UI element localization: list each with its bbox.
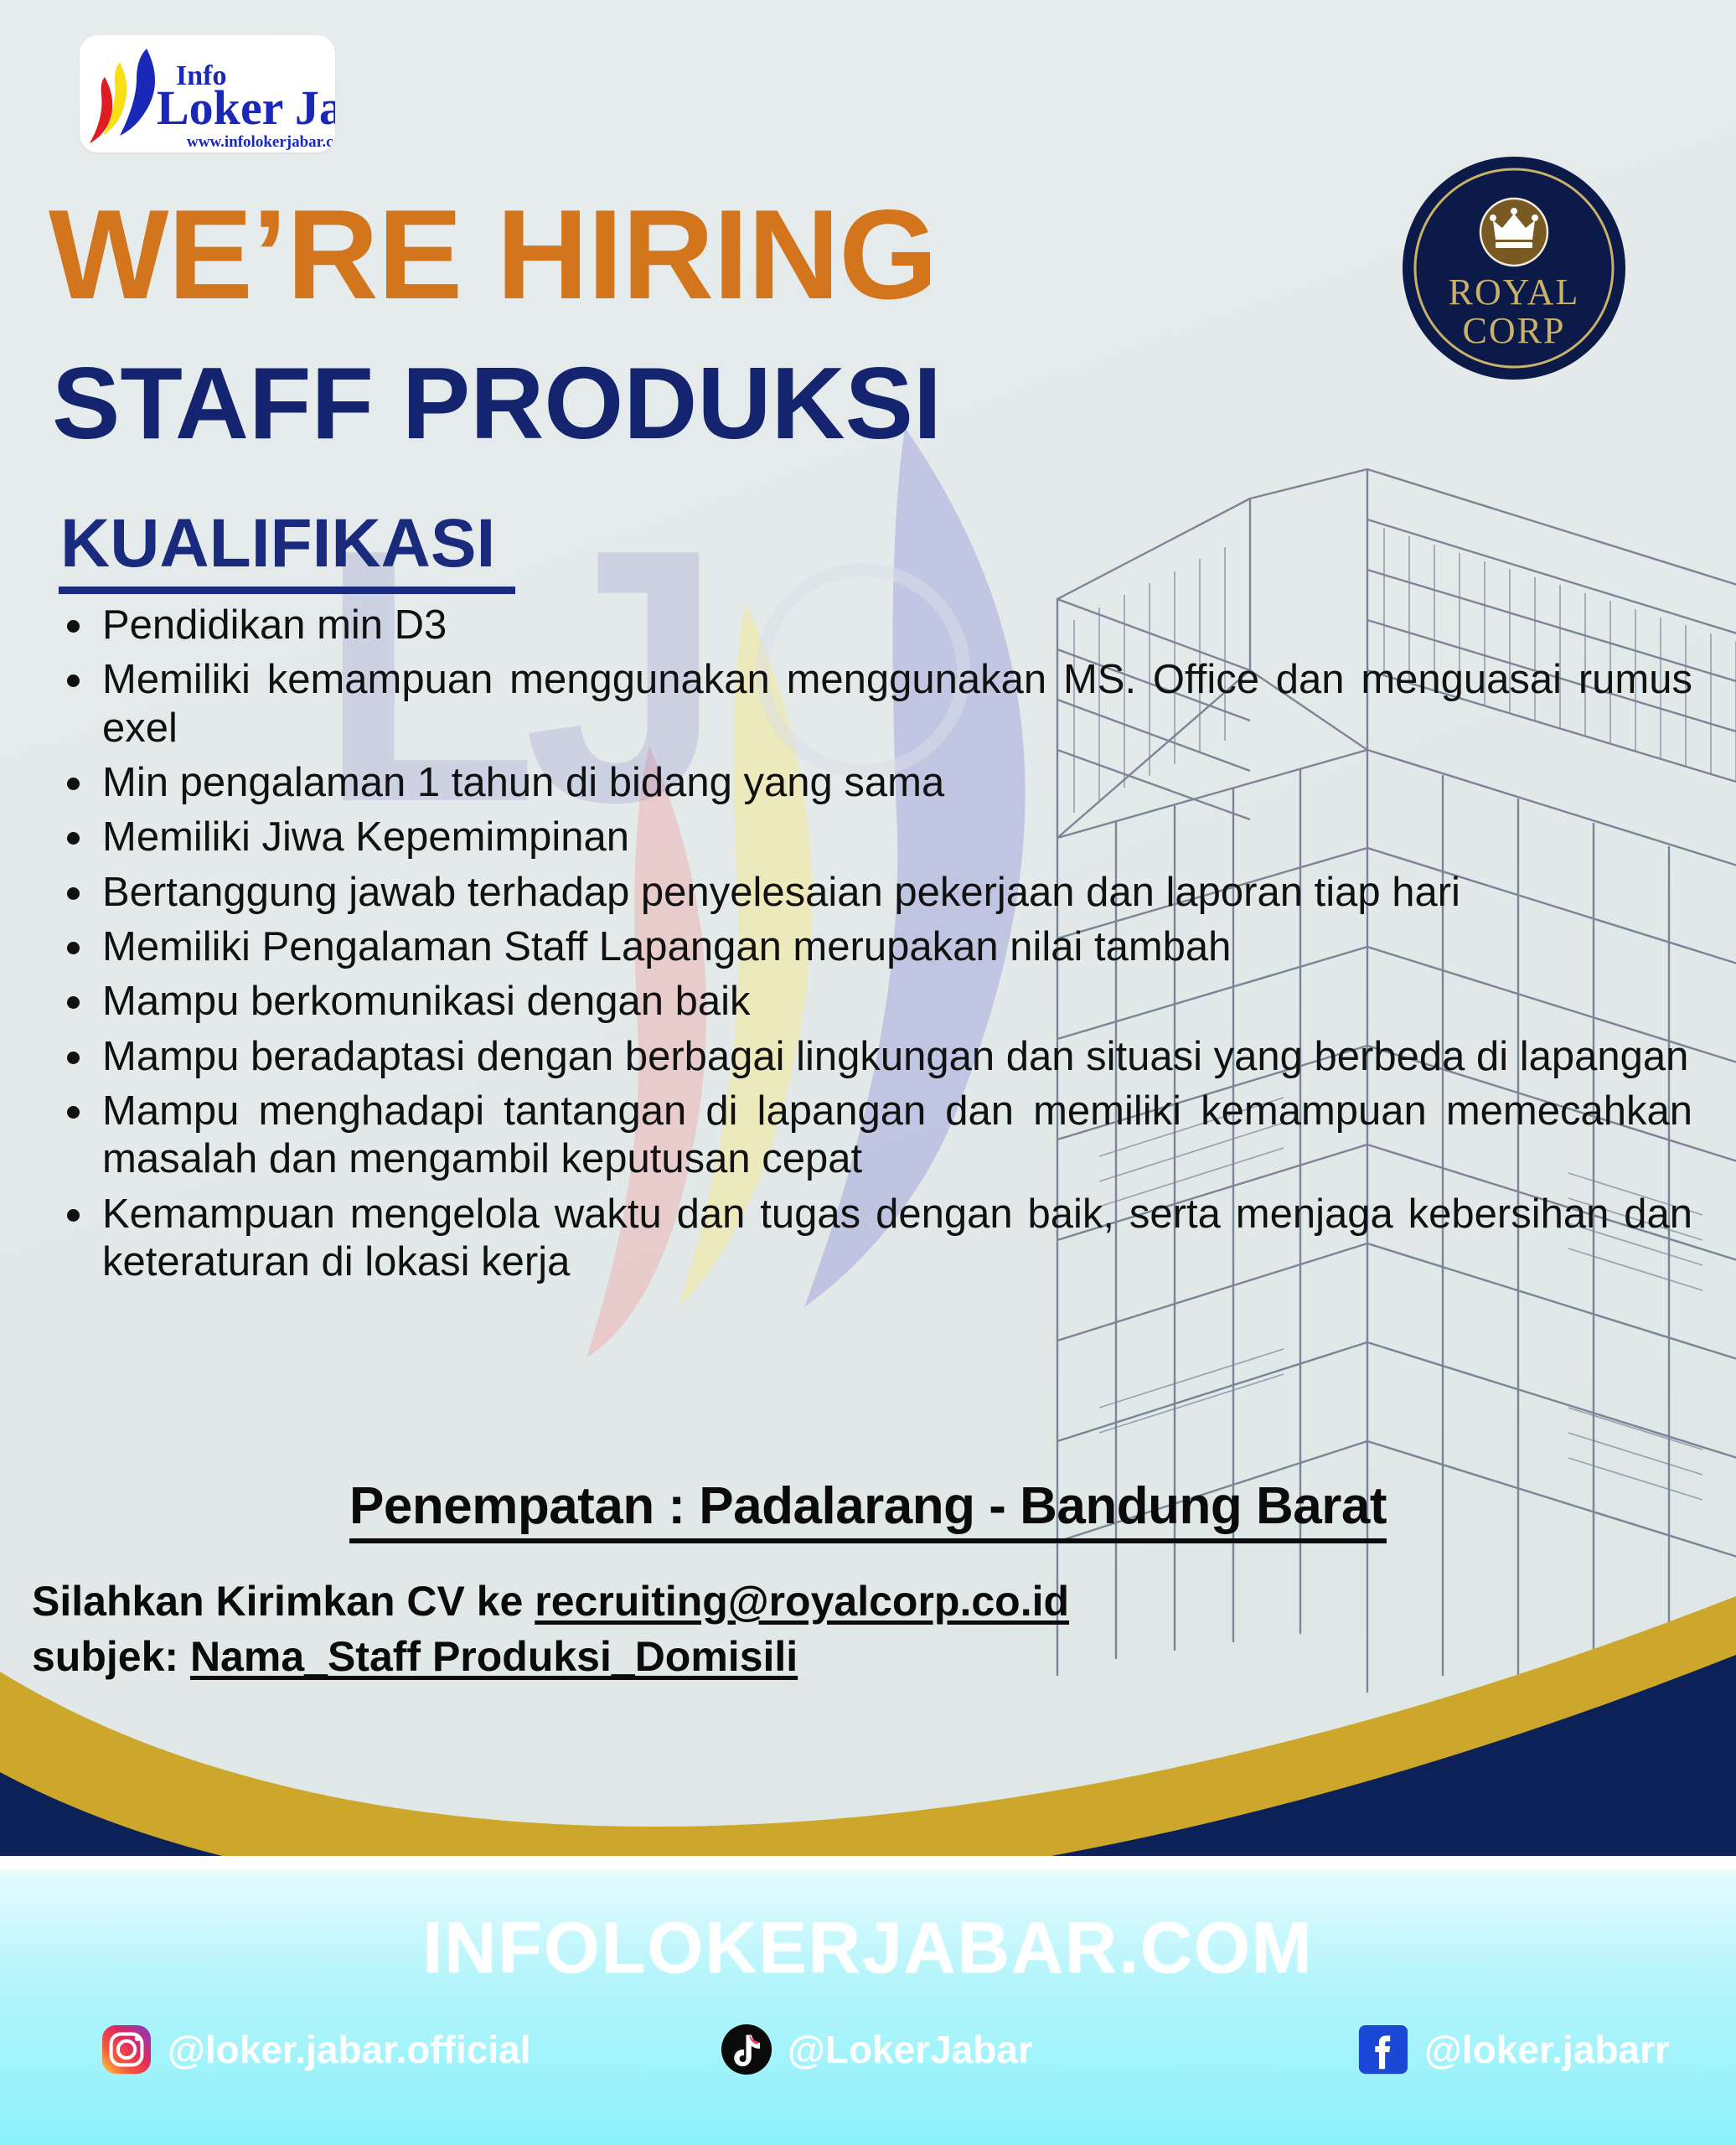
- qualification-item: Memiliki Pengalaman Staff Lapangan merup…: [50, 923, 1692, 971]
- bottom-wave-decoration: [0, 1496, 1736, 1856]
- poster-main-panel: LJ: [0, 0, 1736, 1856]
- footer-website-title: INFOLOKERJABAR.COM: [0, 1907, 1736, 1990]
- social-instagram[interactable]: @loker.jabar.official: [101, 2024, 530, 2075]
- qualification-item: Kemampuan mengelola waktu dan tugas deng…: [50, 1191, 1692, 1287]
- qualification-item: Mampu berkomunikasi dengan baik: [50, 978, 1692, 1026]
- tiktok-icon: [721, 2024, 772, 2075]
- qualification-item: Mampu beradaptasi dengan berbagai lingku…: [50, 1033, 1692, 1081]
- qualification-item: Min pengalaman 1 tahun di bidang yang sa…: [50, 759, 1692, 807]
- logo-main-text: Loker Jabar: [157, 84, 335, 132]
- royal-corp-line1: ROYAL: [1449, 271, 1580, 313]
- tiktok-handle: @LokerJabar: [788, 2027, 1033, 2072]
- logo-website-text: www.infolokerjabar.com: [187, 134, 335, 150]
- qualification-item: Memiliki Jiwa Kepemimpinan: [50, 814, 1692, 861]
- facebook-handle: @loker.jabarr: [1424, 2027, 1670, 2072]
- qualification-item: Memiliki kemampuan menggunakan menggunak…: [50, 656, 1692, 752]
- instagram-icon: [101, 2024, 152, 2075]
- qualifications-list: Pendidikan min D3 Memiliki kemampuan men…: [50, 602, 1692, 1293]
- social-tiktok[interactable]: @LokerJabar: [721, 2024, 1033, 2075]
- qualification-item: Mampu menghadapi tantangan di lapangan d…: [50, 1088, 1692, 1184]
- royal-corp-logo: ROYAL CORP: [1401, 155, 1627, 381]
- headline-job-title: STAFF PRODUKSI: [52, 352, 942, 454]
- qualification-item: Bertanggung jawab terhadap penyelesaian …: [50, 869, 1692, 917]
- qualifications-heading: KUALIFIKASI: [60, 509, 495, 578]
- qualification-item: Pendidikan min D3: [50, 602, 1692, 649]
- qualifications-heading-underline: [59, 587, 515, 594]
- royal-corp-line2: CORP: [1463, 310, 1566, 351]
- infolokerjabar-logo: Info Loker Jabar www.infolokerjabar.com: [80, 35, 335, 152]
- instagram-handle: @loker.jabar.official: [168, 2027, 530, 2072]
- job-poster: LJ: [0, 0, 1736, 2145]
- footer-divider: [0, 1862, 1736, 1870]
- facebook-icon: [1357, 2024, 1409, 2075]
- social-links: @loker.jabar.official @LokerJabar @loker…: [0, 2024, 1736, 2116]
- headline-were-hiring: WE’RE HIRING: [49, 191, 937, 318]
- social-facebook[interactable]: @loker.jabarr: [1357, 2024, 1670, 2075]
